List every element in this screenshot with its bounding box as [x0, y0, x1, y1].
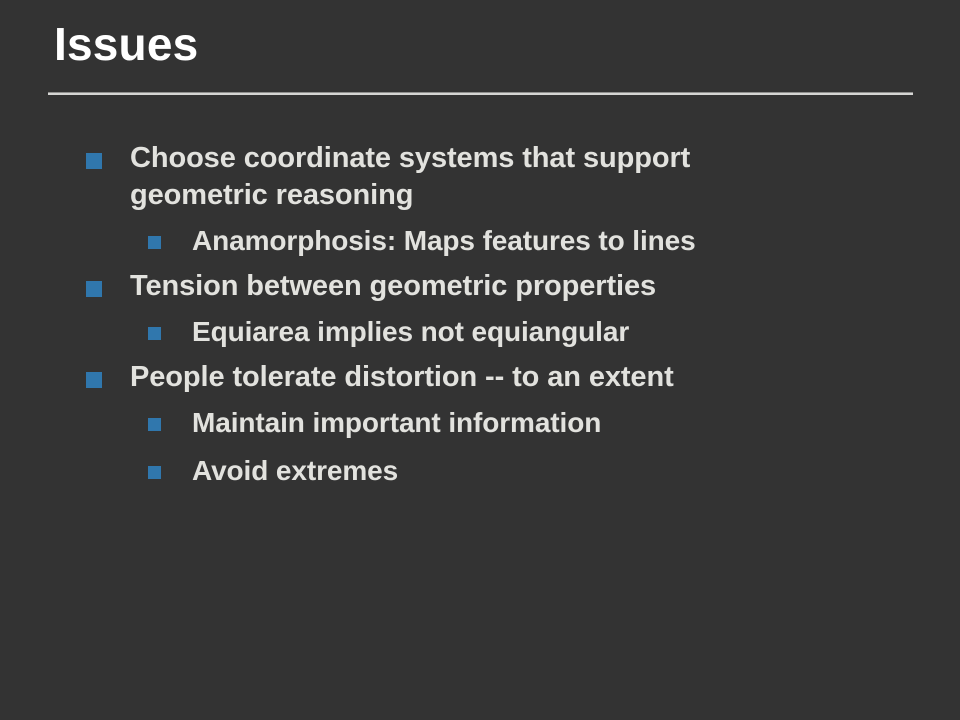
list-item: Avoid extremes: [0, 450, 960, 492]
square-bullet-icon: [86, 281, 102, 297]
list-item-label: Tension between geometric properties: [130, 268, 820, 305]
list-item-label: Equiarea implies not equiangular: [192, 311, 852, 353]
list-item: People tolerate distortion -- to an exte…: [0, 359, 960, 396]
square-bullet-icon: [148, 466, 161, 479]
square-bullet-icon: [86, 153, 102, 169]
list-item: Tension between geometric properties: [0, 268, 960, 305]
list-item: Maintain important information: [0, 402, 960, 444]
list-item-label: People tolerate distortion -- to an exte…: [130, 359, 820, 396]
list-item: Equiarea implies not equiangular: [0, 311, 960, 353]
list-item-label: Choose coordinate systems that support g…: [130, 140, 820, 214]
square-bullet-icon: [148, 327, 161, 340]
list-item-label: Maintain important information: [192, 402, 852, 444]
list-item: Choose coordinate systems that support g…: [0, 140, 960, 214]
bullet-list: Choose coordinate systems that support g…: [0, 140, 960, 498]
list-item-label: Avoid extremes: [192, 450, 852, 492]
list-item: Anamorphosis: Maps features to lines: [0, 220, 960, 262]
page-title: Issues: [54, 18, 198, 71]
list-item-label: Anamorphosis: Maps features to lines: [192, 220, 852, 262]
slide-canvas: Issues Choose coordinate systems that su…: [0, 0, 960, 720]
title-divider: [48, 92, 913, 95]
square-bullet-icon: [148, 236, 161, 249]
square-bullet-icon: [148, 418, 161, 431]
square-bullet-icon: [86, 372, 102, 388]
